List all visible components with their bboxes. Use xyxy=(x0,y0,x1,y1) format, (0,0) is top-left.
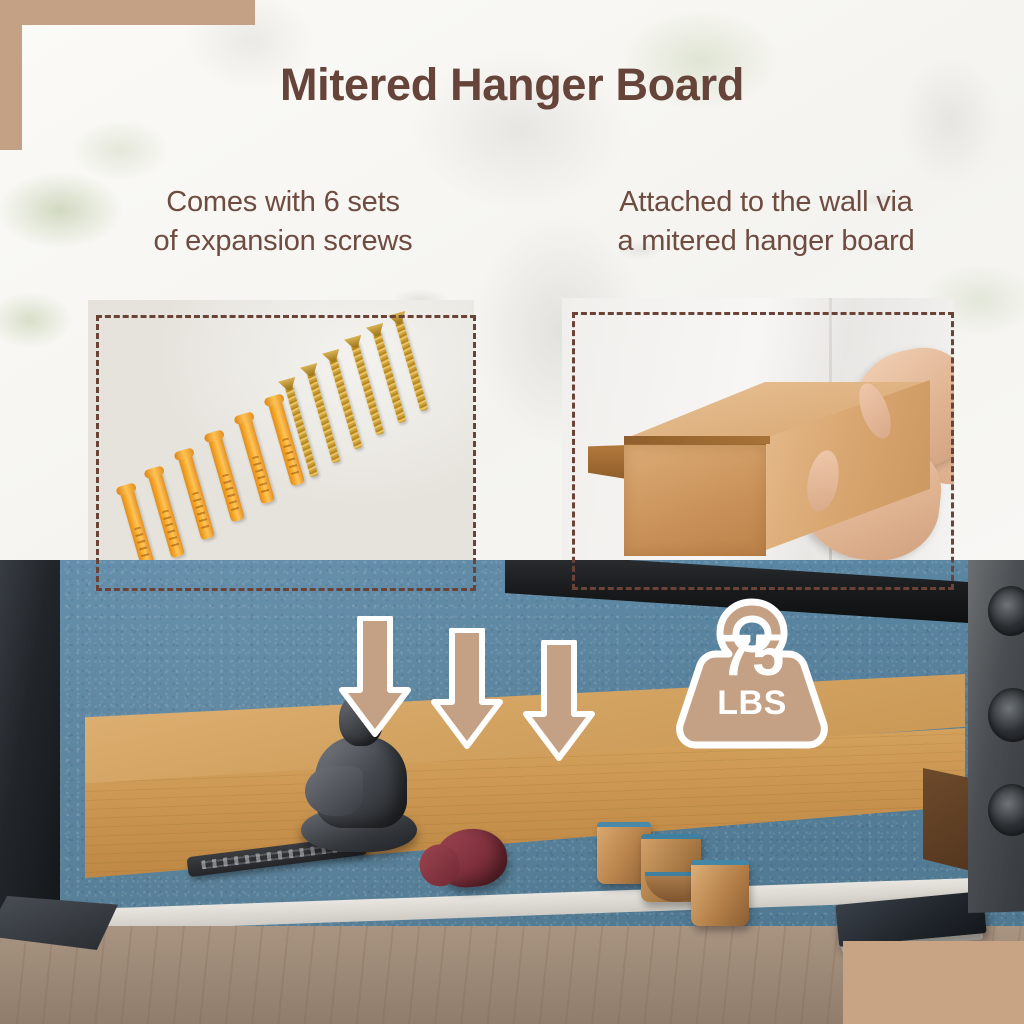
statue-arm xyxy=(305,766,363,816)
weight-unit: LBS xyxy=(668,684,836,723)
wooden-shelf-box xyxy=(624,344,930,540)
feature-caption-screws: Comes with 6 sets of expansion screws xyxy=(88,183,478,261)
feature-caption-hanger-line1: Attached to the wall via xyxy=(516,183,1016,222)
photo-panel-hanger xyxy=(562,298,954,582)
load-arrow-1 xyxy=(336,616,414,738)
infographic-canvas: Mitered Hanger Board Comes with 6 sets o… xyxy=(0,0,1024,1024)
shelf-box-end-face xyxy=(624,440,766,556)
weight-capacity-badge: 75 LBS xyxy=(668,592,836,758)
load-arrow-3 xyxy=(520,640,598,762)
weight-value: 75 xyxy=(668,622,836,689)
load-arrow-2 xyxy=(428,628,506,750)
candle-jar-3 xyxy=(691,860,749,926)
corner-bracket-top-horizontal xyxy=(0,0,255,25)
left-speaker-tower xyxy=(0,560,60,915)
feature-caption-hanger-line2: a mitered hanger board xyxy=(516,222,1016,261)
corner-block-bottom-right xyxy=(843,941,1024,1024)
feature-caption-screws-line2: of expansion screws xyxy=(88,222,478,261)
feature-caption-screws-line1: Comes with 6 sets xyxy=(88,183,478,222)
photo-panel-screws xyxy=(88,300,474,582)
page-title: Mitered Hanger Board xyxy=(0,62,1024,107)
feature-caption-hanger: Attached to the wall via a mitered hange… xyxy=(516,183,1016,261)
shelf-box-edge xyxy=(624,436,770,444)
book xyxy=(835,891,986,947)
